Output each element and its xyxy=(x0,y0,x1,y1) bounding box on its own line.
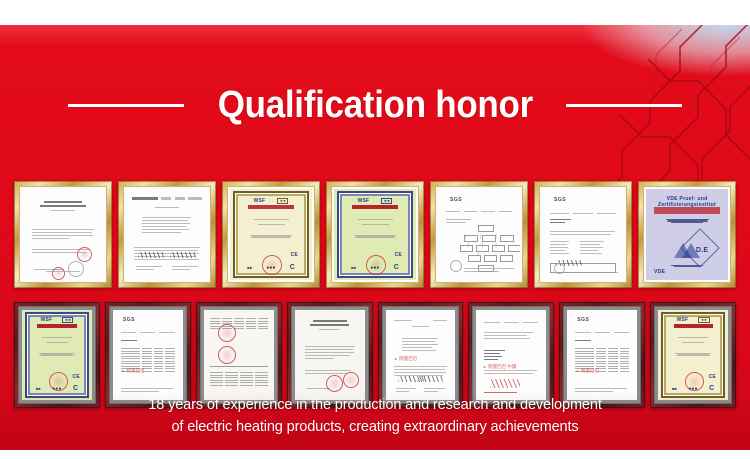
corner-glow xyxy=(580,25,750,77)
vde-footer-logo: VDE xyxy=(654,269,665,275)
certificate-item[interactable]: VDE Pruef- und Zertifizierungsinstitut xyxy=(638,181,736,288)
certificate-paper: WSF ■ ■ xyxy=(230,189,312,280)
certificate-mat xyxy=(200,306,278,404)
certificate-item[interactable]: SGS xyxy=(534,181,632,288)
certificate-paper xyxy=(295,310,365,400)
certificate-mat xyxy=(19,186,107,283)
wsf-logo: WSF xyxy=(677,317,689,323)
certificate-mat: SGS xyxy=(539,186,627,283)
certificate-paper: WSF ■ ■ xyxy=(658,310,728,400)
red-seal-icon xyxy=(218,346,236,364)
page-title-row: Qualification honor xyxy=(0,80,750,130)
certificate-paper: ▲ 阿里巴巴 中国 xyxy=(476,310,546,400)
red-seal-icon xyxy=(326,375,343,392)
red-signature-icon xyxy=(490,379,520,388)
certificate-mat: ▲ 阿里巴巴 xyxy=(382,306,460,404)
red-seal-icon xyxy=(343,372,359,388)
vde-mark-text: D․E xyxy=(696,246,708,254)
red-seal-icon xyxy=(218,324,236,342)
cqc-logo: ●●● xyxy=(688,386,697,392)
title-rule-left xyxy=(68,104,184,107)
ccc-logo: C xyxy=(290,264,295,271)
qualification-honor-banner: Qualification honor xyxy=(0,0,750,459)
cnas-logo: ■■ xyxy=(36,386,41,391)
cert-badge: ■ ■ xyxy=(381,198,392,204)
signature-icon xyxy=(417,376,443,382)
cnas-logo: ■■ xyxy=(672,386,677,391)
certificate-item[interactable]: SGS xyxy=(105,302,191,408)
sgs-logo: SGS xyxy=(123,317,135,323)
cqc-logo: ●●● xyxy=(370,265,379,271)
page-title: Qualification honor xyxy=(217,83,532,127)
ce-mark-icon: CE xyxy=(709,374,716,380)
ccc-logo: C xyxy=(709,385,714,392)
certificate-paper: SGS xyxy=(113,310,183,400)
ce-mark-icon: CE xyxy=(291,252,298,258)
certificate-paper: WSF ■ ■ xyxy=(334,189,416,280)
caption-line-2: of electric heating products, creating e… xyxy=(11,416,739,438)
ccc-logo: C xyxy=(394,264,399,271)
sgs-stamp-icon xyxy=(554,263,565,274)
certificate-item[interactable]: ▲ 阿里巴巴 中国 xyxy=(468,302,554,408)
red-banner: Qualification honor xyxy=(0,25,750,450)
certificate-mat: SGS xyxy=(109,306,187,404)
data-table xyxy=(210,372,268,387)
certificate-mat: SGS xyxy=(563,306,641,404)
certificate-item[interactable]: WSF ■ ■ xyxy=(326,181,424,288)
certificate-item[interactable] xyxy=(196,302,282,408)
red-seal-icon xyxy=(77,247,92,262)
certificate-paper xyxy=(22,189,104,280)
wsf-logo: WSF xyxy=(40,317,52,323)
certificate-paper xyxy=(204,310,274,400)
cqc-logo: ●●● xyxy=(266,265,275,271)
certificate-paper: SGS xyxy=(438,189,520,280)
bottom-white-strip xyxy=(0,450,750,459)
certificate-item[interactable] xyxy=(118,181,216,288)
cnas-logo: ■■ xyxy=(351,265,356,270)
watermark: ▲ 阿里巴巴 xyxy=(575,368,599,374)
certificate-item[interactable] xyxy=(14,181,112,288)
certificate-paper: ▲ 阿里巴巴 xyxy=(386,310,456,400)
certificate-item[interactable]: ▲ 阿里巴巴 xyxy=(378,302,464,408)
ccc-logo: C xyxy=(73,385,78,392)
cqc-logo: ●●● xyxy=(52,386,61,392)
certificate-mat xyxy=(291,306,369,404)
certificate-mat: VDE Pruef- und Zertifizierungsinstitut xyxy=(643,186,731,283)
ce-mark-icon: CE xyxy=(73,374,80,380)
certificate-paper: VDE Pruef- und Zertifizierungsinstitut xyxy=(646,189,728,280)
certificate-item[interactable]: WSF ■ ■ xyxy=(14,302,100,408)
certificate-item[interactable]: WSF ■ ■ xyxy=(222,181,320,288)
cert-badge: ■ ■ xyxy=(277,198,288,204)
certificate-item[interactable]: SGS xyxy=(430,181,528,288)
certificate-mat: WSF ■ ■ xyxy=(654,306,732,404)
certificate-mat: WSF ■ ■ xyxy=(18,306,96,404)
certificate-item[interactable]: WSF ■ ■ xyxy=(650,302,736,408)
certificate-paper xyxy=(126,189,208,280)
signature-icon xyxy=(170,252,196,258)
certificate-mat: WSF ■ ■ xyxy=(227,186,315,283)
certificate-item[interactable]: SGS xyxy=(559,302,645,408)
wsf-logo: WSF xyxy=(358,198,370,204)
certificate-mat: SGS xyxy=(435,186,523,283)
title-rule-right xyxy=(566,104,682,107)
ce-mark-icon: CE xyxy=(395,252,402,258)
cert-badge: ■ ■ xyxy=(62,317,73,323)
certificate-item[interactable] xyxy=(287,302,373,408)
certificate-mat: WSF ■ ■ xyxy=(331,186,419,283)
cert-badge: ■ ■ xyxy=(698,317,709,323)
certificate-paper: WSF ■ ■ xyxy=(22,310,92,400)
certificate-mat: ▲ 阿里巴巴 中国 xyxy=(472,306,550,404)
sgs-logo: SGS xyxy=(554,197,566,203)
signature-icon xyxy=(138,252,164,258)
cnas-logo: ■■ xyxy=(247,265,252,270)
watermark: ▲ 阿里巴巴 中国 xyxy=(482,364,516,370)
caption-block: 18 years of experience in the production… xyxy=(11,394,739,438)
caption-line-1: 18 years of experience in the production… xyxy=(11,394,739,416)
watermark: ▲ 阿里巴巴 xyxy=(394,356,418,362)
certificate-paper: SGS xyxy=(567,310,637,400)
wsf-logo: WSF xyxy=(254,198,266,204)
watermark: ▲ 阿里巴巴 xyxy=(121,368,145,374)
certificate-row-2: WSF ■ ■ xyxy=(14,302,736,408)
certificate-mat xyxy=(123,186,211,283)
certificate-paper: SGS xyxy=(542,189,624,280)
certificate-row-1: WSF ■ ■ xyxy=(14,181,736,288)
sgs-logo: SGS xyxy=(577,317,589,323)
sgs-stamp-icon xyxy=(450,260,462,272)
